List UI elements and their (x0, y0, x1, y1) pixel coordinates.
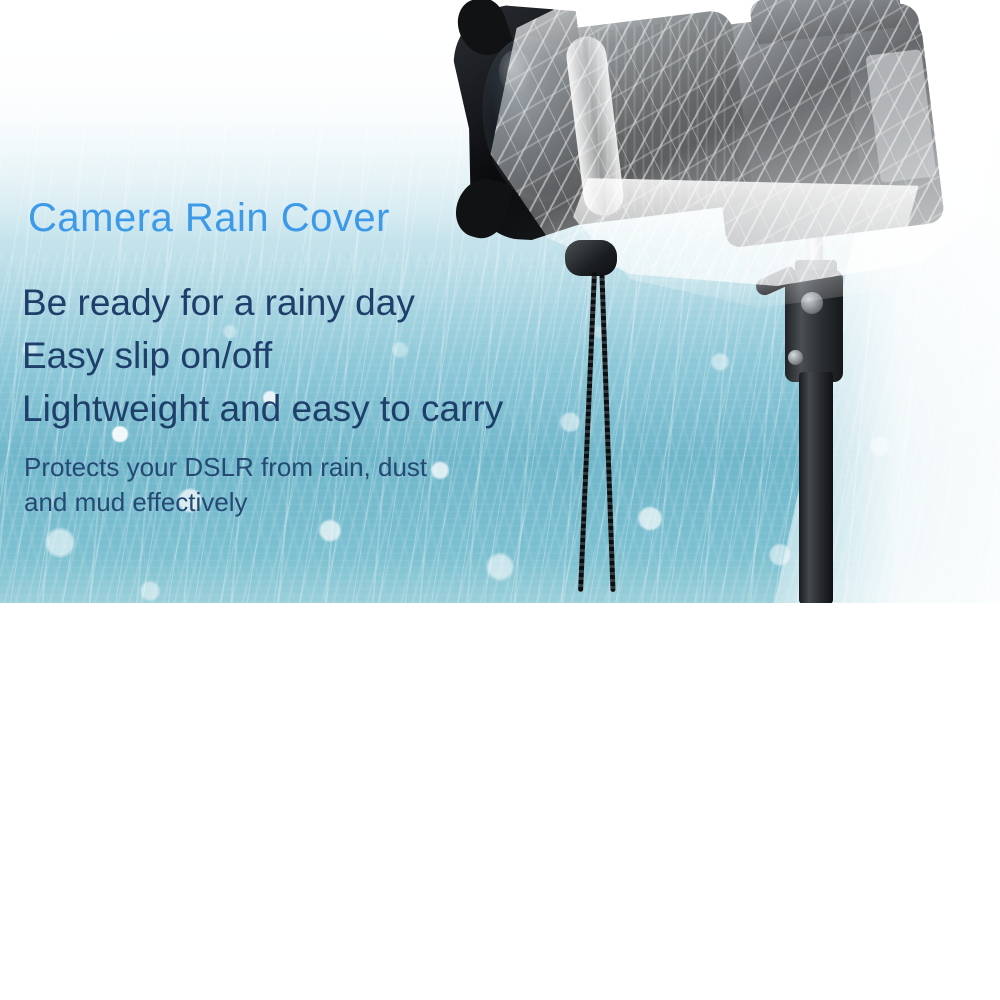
feature-section-panel: Shooting Menu 1 File Numb'g and SaveA Sh… (0, 603, 1000, 1000)
hero-subtext: Protects your DSLR from rain, dust and m… (24, 450, 624, 519)
hero-feature-line: Easy slip on/off (22, 330, 642, 383)
product-marketing-page: Camera Rain Cover Be ready for a rainy d… (0, 0, 1000, 1000)
drawstring-toggle (565, 240, 617, 276)
tripod-screw (788, 350, 803, 365)
hero-subtext-line: Protects your DSLR from rain, dust (24, 450, 624, 485)
hero-subtext-line: and mud effectively (24, 485, 624, 520)
tripod-shaft (799, 372, 833, 603)
hero-feature-list: Be ready for a rainy day Easy slip on/of… (22, 277, 642, 436)
page-title: Camera Rain Cover (28, 196, 390, 241)
hero-panel: Camera Rain Cover Be ready for a rainy d… (0, 0, 1000, 603)
hero-feature-line: Be ready for a rainy day (22, 277, 642, 330)
hero-feature-line: Lightweight and easy to carry (22, 383, 642, 436)
